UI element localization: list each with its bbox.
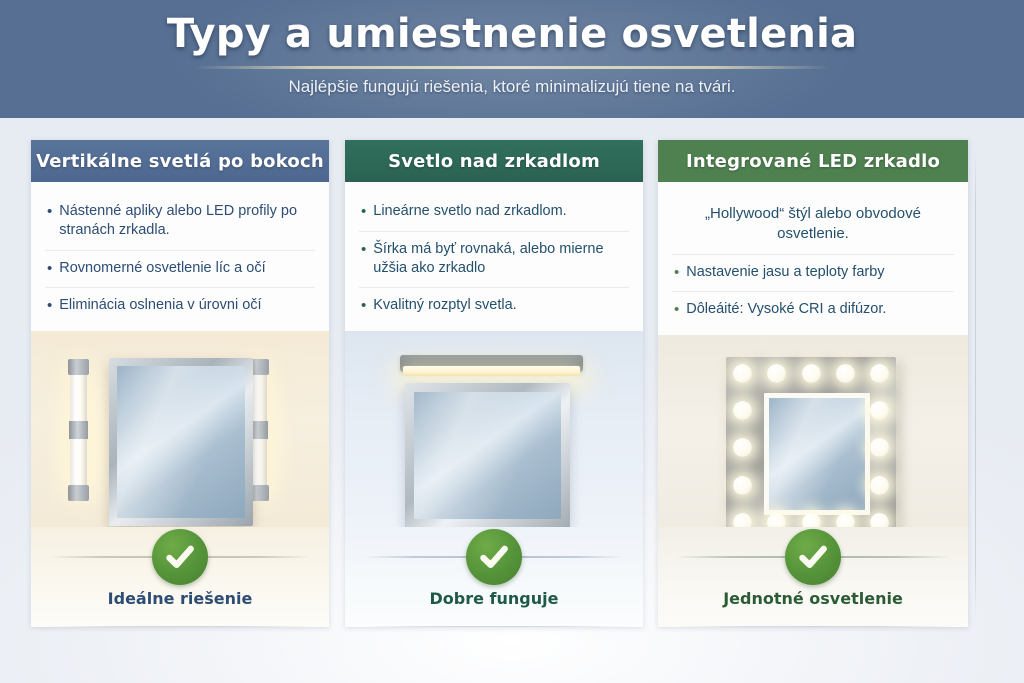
- bullet-marker-icon: •: [47, 202, 52, 241]
- list-item: • Rovnomerné osvetlenie líc a očí: [45, 250, 315, 288]
- mirror-glass: [117, 366, 245, 518]
- list-item: • Nástenné apliky alebo LED profily po s…: [45, 194, 315, 250]
- list-item: • Lineárne svetlo nad zrkadlom.: [359, 194, 629, 231]
- light-bulb-icon: [733, 476, 752, 495]
- light-bulb-icon: [802, 513, 821, 527]
- mirror-frame: [726, 357, 896, 527]
- check-circle-icon: [152, 529, 208, 585]
- mirror-frame: [405, 383, 570, 527]
- cards-row: Vertikálne svetlá po bokoch • Nástenné a…: [0, 140, 1024, 635]
- page-title: Typy a umiestnenie osvetlenia: [0, 11, 1024, 57]
- sconce-light-left-icon: [70, 369, 87, 491]
- infographic-page: Typy a umiestnenie osvetlenia Najlépšie …: [0, 0, 1024, 683]
- bullet-marker-icon: •: [674, 263, 679, 283]
- mirror-frame: [109, 358, 253, 526]
- card-bottom-rule: [49, 626, 311, 627]
- card-verdict: Jednotné osvetlenie: [658, 527, 968, 627]
- verdict-label: Jednotné osvetlenie: [658, 589, 968, 608]
- list-item-text: Šírka má byť rovnaká, alebo mierne užšia…: [373, 240, 627, 279]
- light-bulb-icon: [767, 513, 786, 527]
- illustration-hollywood-mirror: [658, 335, 968, 527]
- check-circle-icon: [785, 529, 841, 585]
- light-bulb-icon: [836, 364, 855, 383]
- list-item-text: Nástenné apliky alebo LED profily po str…: [59, 202, 313, 241]
- page-subtitle: Najlépšie fungujú riešenia, ktoré minima…: [0, 77, 1024, 97]
- card-bullet-list: • Nástenné apliky alebo LED profily po s…: [31, 182, 329, 331]
- bullet-marker-icon: •: [361, 296, 366, 316]
- list-item: • Eliminácia oslnenia v úrovni očí: [45, 287, 315, 325]
- card-heading: Vertikálne svetlá po bokoch: [31, 140, 329, 182]
- list-item-text: Kvalitný rozptyl svetla.: [373, 296, 516, 316]
- card-vertical-side-lights[interactable]: Vertikálne svetlá po bokoch • Nástenné a…: [31, 140, 329, 627]
- card-verdict: Ideálne riešenie: [31, 527, 329, 627]
- card-bullet-list: • „Hollywood“ štýl alebo obvodové osvetl…: [658, 182, 968, 335]
- light-bulb-icon: [733, 401, 752, 420]
- list-item: • Šírka má byť rovnaká, alebo mierne užš…: [359, 231, 629, 288]
- light-bulb-icon: [733, 513, 752, 527]
- list-item: • Nastavenie jasu a teploty farby: [672, 254, 954, 292]
- list-item-text: Eliminácia oslnenia v úrovni očí: [59, 296, 261, 316]
- bullet-marker-icon: •: [674, 300, 679, 320]
- overhead-light-tube-icon: [403, 366, 580, 376]
- bullet-marker-icon: •: [361, 240, 366, 279]
- bullet-marker-icon: •: [47, 296, 52, 316]
- header-band: Typy a umiestnenie osvetlenia Najlépšie …: [0, 0, 1024, 118]
- illustration-mirror-side-sconces: [31, 331, 329, 527]
- check-circle-icon: [466, 529, 522, 585]
- bullet-marker-icon: •: [47, 259, 52, 279]
- list-item-lead: • „Hollywood“ štýl alebo obvodové osvetl…: [672, 194, 954, 254]
- list-item-text: Rovnomerné osvetlenie líc a očí: [59, 259, 265, 279]
- list-item-text: Dôleáité: Vysoké CRI a difúzor.: [686, 300, 886, 320]
- bullet-marker-icon: •: [361, 202, 366, 222]
- card-light-above-mirror[interactable]: Svetlo nad zrkadlom • Lineárne svetlo na…: [345, 140, 643, 627]
- card-integrated-led-mirror[interactable]: Integrované LED zrkadlo • „Hollywood“ št…: [658, 140, 968, 627]
- light-bulb-icon: [870, 401, 889, 420]
- mirror-glass: [414, 392, 561, 519]
- light-bulb-icon: [733, 438, 752, 457]
- card-bottom-rule: [363, 626, 625, 627]
- light-bulb-icon: [870, 476, 889, 495]
- light-bulb-icon: [836, 513, 855, 527]
- list-item: • Dôleáité: Vysoké CRI a difúzor.: [672, 291, 954, 329]
- verdict-label: Dobre funguje: [345, 589, 643, 608]
- title-divider-rule: [194, 66, 830, 69]
- mirror-glass: [764, 393, 870, 515]
- illustration-mirror-overhead-light: [345, 331, 643, 527]
- card-verdict: Dobre funguje: [345, 527, 643, 627]
- light-bulb-icon: [802, 364, 821, 383]
- card-bottom-rule: [676, 626, 950, 627]
- light-bulb-icon: [870, 364, 889, 383]
- verdict-label: Ideálne riešenie: [31, 589, 329, 608]
- light-bulb-icon: [767, 364, 786, 383]
- list-item-text: Lineárne svetlo nad zrkadlom.: [373, 202, 566, 222]
- list-item-text: „Hollywood“ štýl alebo obvodové osvetlen…: [674, 204, 952, 245]
- card-heading: Integrované LED zrkadlo: [658, 140, 968, 182]
- list-item: • Kvalitný rozptyl svetla.: [359, 287, 629, 325]
- card-bullet-list: • Lineárne svetlo nad zrkadlom. • Šírka …: [345, 182, 643, 331]
- list-item-text: Nastavenie jasu a teploty farby: [686, 263, 884, 283]
- card-heading: Svetlo nad zrkadlom: [345, 140, 643, 182]
- light-bulb-icon: [733, 364, 752, 383]
- light-bulb-icon: [870, 438, 889, 457]
- light-bulb-icon: [870, 513, 889, 527]
